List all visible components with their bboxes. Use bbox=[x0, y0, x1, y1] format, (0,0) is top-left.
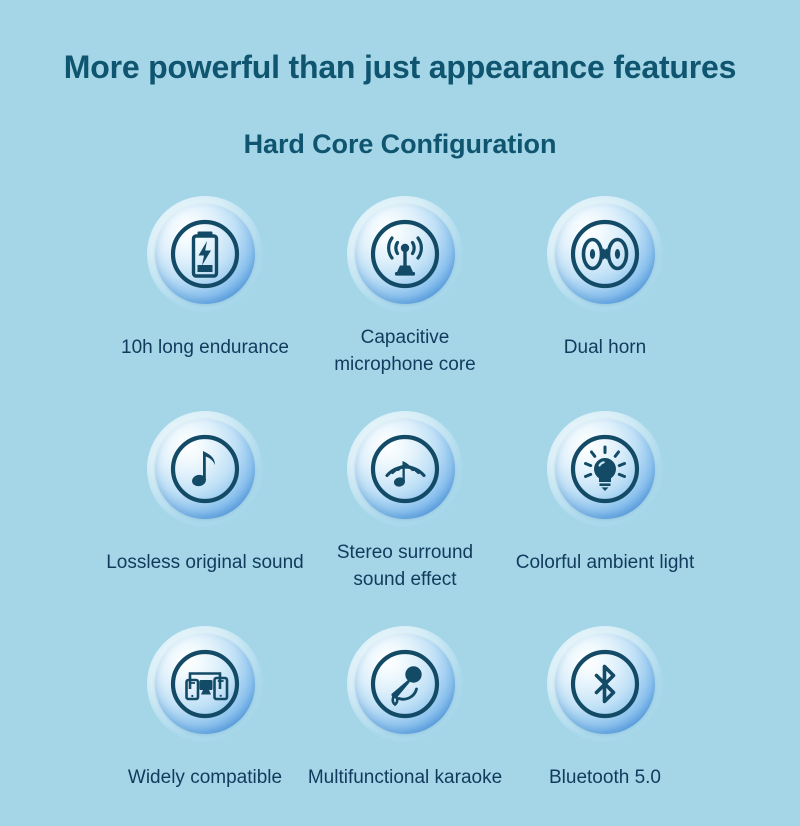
feature-label: Capacitive microphone core bbox=[305, 324, 505, 378]
feature-row: Widely compatible Multifu bbox=[0, 626, 800, 826]
feature-label: Widely compatible bbox=[105, 764, 305, 791]
feature-row: Lossless original sound bbox=[0, 411, 800, 611]
feature-item-ambient-light[interactable]: Colorful ambient light bbox=[505, 411, 705, 611]
icon-orb bbox=[547, 196, 663, 312]
orb-sphere bbox=[155, 419, 255, 519]
battery-icon bbox=[168, 217, 242, 291]
orb-sphere bbox=[355, 634, 455, 734]
feature-item-microphone-core[interactable]: Capacitive microphone core bbox=[305, 196, 505, 396]
feature-item-dual-horn[interactable]: Dual horn bbox=[505, 196, 705, 396]
page-title-text: More powerful than just appearance featu… bbox=[0, 48, 800, 86]
icon-orb bbox=[547, 626, 663, 742]
icon-orb bbox=[147, 626, 263, 742]
page-subtitle: Hard Core Configuration bbox=[0, 128, 800, 160]
feature-item-karaoke[interactable]: Multifunctional karaoke bbox=[305, 626, 505, 826]
orb-sphere bbox=[155, 634, 255, 734]
surround-sound-icon bbox=[368, 432, 442, 506]
feature-label: Multifunctional karaoke bbox=[285, 764, 525, 791]
feature-label: Stereo surround sound effect bbox=[305, 539, 505, 593]
page-title: More powerful than just appearance featu… bbox=[0, 48, 800, 86]
feature-item-stereo-surround[interactable]: Stereo surround sound effect bbox=[305, 411, 505, 611]
lightbulb-icon bbox=[568, 432, 642, 506]
feature-item-battery[interactable]: 10h long endurance bbox=[105, 196, 305, 396]
devices-icon bbox=[168, 647, 242, 721]
page-subtitle-text: Hard Core Configuration bbox=[0, 128, 800, 160]
feature-item-compatibility[interactable]: Widely compatible bbox=[105, 626, 305, 826]
orb-sphere bbox=[355, 419, 455, 519]
feature-label: 10h long endurance bbox=[105, 334, 305, 361]
icon-orb bbox=[347, 196, 463, 312]
bluetooth-icon bbox=[568, 647, 642, 721]
feature-item-bluetooth[interactable]: Bluetooth 5.0 bbox=[505, 626, 705, 826]
icon-orb bbox=[147, 411, 263, 527]
microphone-icon bbox=[368, 647, 442, 721]
antenna-icon bbox=[368, 217, 442, 291]
feature-item-lossless-sound[interactable]: Lossless original sound bbox=[105, 411, 305, 611]
orb-sphere bbox=[355, 204, 455, 304]
feature-poster: More powerful than just appearance featu… bbox=[0, 0, 800, 800]
icon-orb bbox=[347, 411, 463, 527]
feature-label: Lossless original sound bbox=[105, 549, 305, 576]
icon-orb bbox=[547, 411, 663, 527]
feature-label: Bluetooth 5.0 bbox=[505, 764, 705, 791]
feature-grid: 10h long endurance bbox=[0, 196, 800, 800]
orb-sphere bbox=[555, 634, 655, 734]
orb-sphere bbox=[555, 204, 655, 304]
music-note-icon bbox=[168, 432, 242, 506]
icon-orb bbox=[347, 626, 463, 742]
feature-label: Dual horn bbox=[505, 334, 705, 361]
dual-speaker-icon bbox=[568, 217, 642, 291]
icon-orb bbox=[147, 196, 263, 312]
feature-row: 10h long endurance bbox=[0, 196, 800, 396]
feature-label: Colorful ambient light bbox=[505, 549, 705, 576]
orb-sphere bbox=[555, 419, 655, 519]
orb-sphere bbox=[155, 204, 255, 304]
